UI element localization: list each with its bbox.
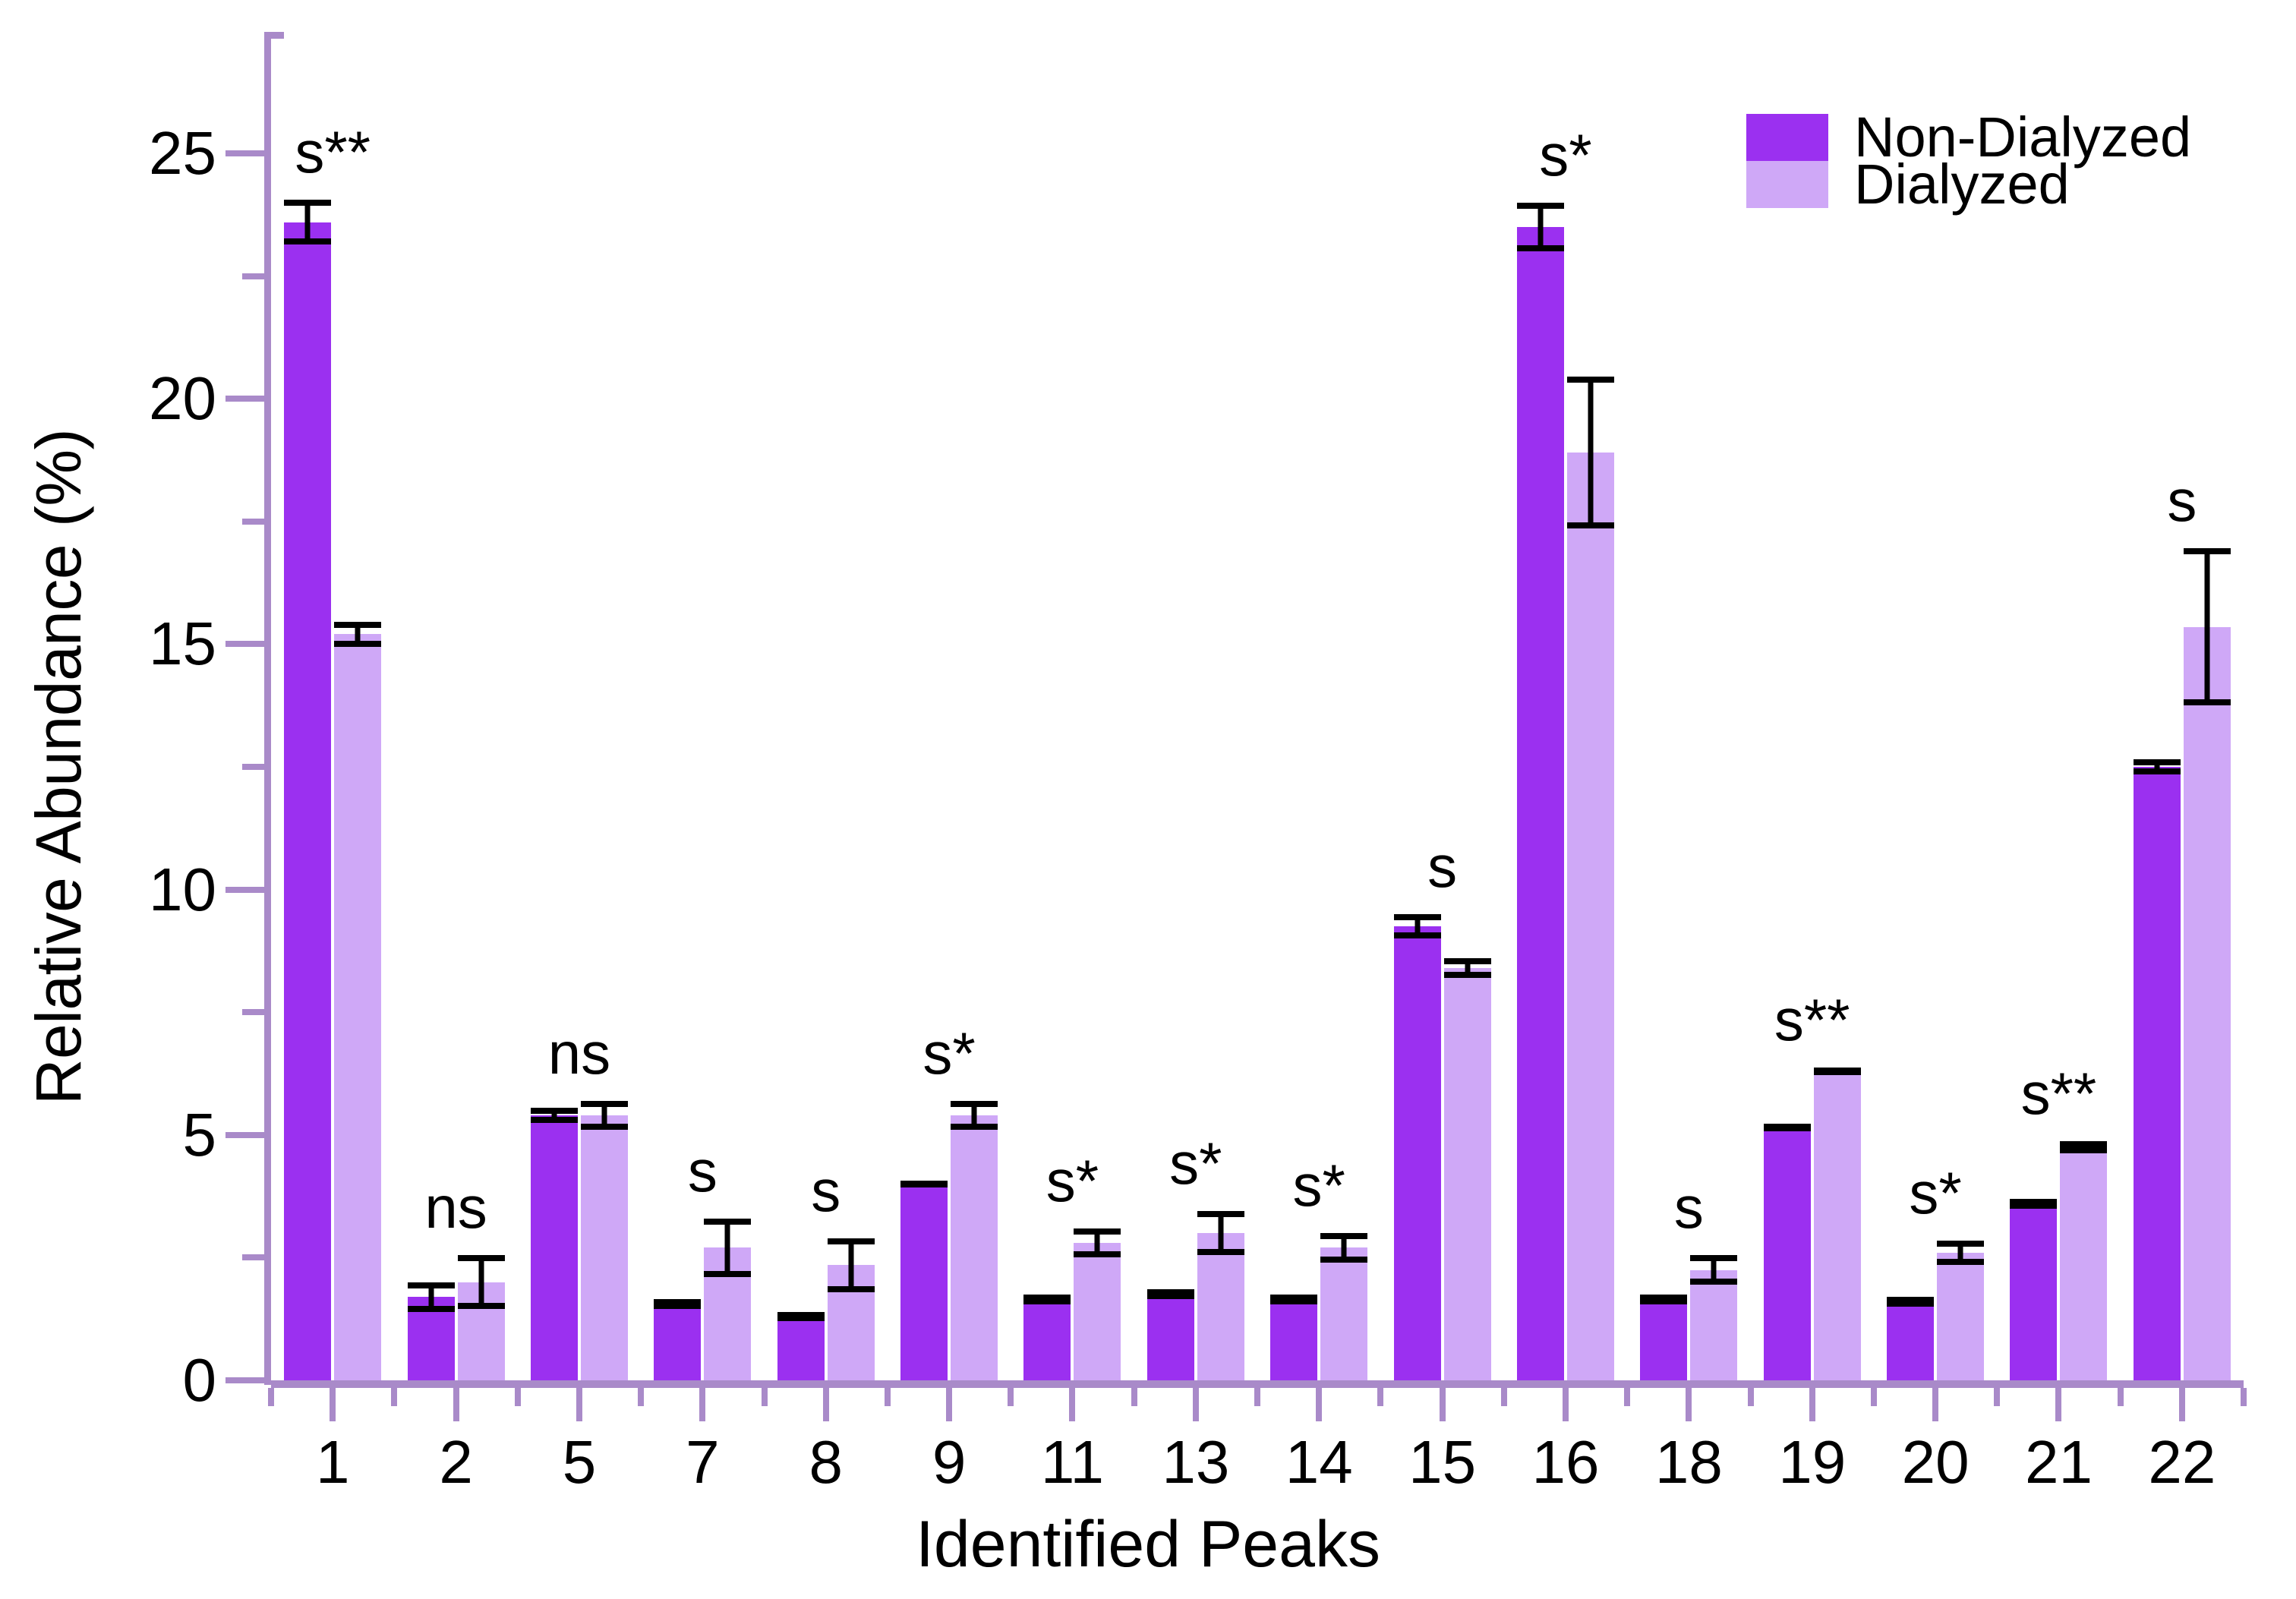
error-bar [777, 1312, 825, 1322]
significance-annotation-peak-8: s [811, 1156, 840, 1225]
error-bar-cap [2134, 759, 2181, 765]
error-bar [2134, 759, 2181, 774]
y-tick-label: 15 [149, 609, 216, 679]
x-tick-label: 11 [1041, 1427, 1104, 1497]
y-tick-major [225, 1377, 265, 1383]
y-tick-label: 25 [149, 118, 216, 188]
bar-non-dialyzed-peak-5[interactable] [531, 1115, 578, 1380]
error-bar-cap [1887, 1301, 1934, 1307]
error-bar-cap [2060, 1147, 2107, 1153]
y-tick-major [225, 641, 265, 647]
bar-dialyzed-peak-19[interactable] [1814, 1071, 1861, 1380]
significance-annotation-peak-16: s* [1539, 121, 1591, 190]
x-tick-major [1932, 1388, 1938, 1421]
significance-annotation-peak-5: ns [548, 1019, 610, 1088]
x-tick-label: 19 [1778, 1427, 1846, 1497]
significance-annotation-peak-2: ns [424, 1173, 487, 1242]
bar-non-dialyzed-peak-19[interactable] [1764, 1127, 1811, 1380]
legend-swatch-non-dialyzed [1746, 114, 1828, 161]
x-tick-major [1440, 1388, 1446, 1421]
x-tick-major [823, 1388, 829, 1421]
error-bar [408, 1282, 455, 1312]
error-bar-cap [951, 1124, 998, 1130]
error-bar-cap [2184, 699, 2231, 705]
y-axis-top-cap [264, 32, 284, 39]
x-tick-label: 20 [1902, 1427, 1970, 1497]
significance-annotation-peak-11: s* [1046, 1146, 1099, 1216]
x-tick-label: 16 [1531, 1427, 1599, 1497]
bar-non-dialyzed-peak-13[interactable] [1147, 1295, 1194, 1380]
error-bar-cap [1197, 1211, 1244, 1217]
x-tick-major [2055, 1388, 2061, 1421]
x-tick-minor [1008, 1388, 1014, 1406]
x-tick-minor [2241, 1388, 2247, 1406]
x-tick-major [330, 1388, 336, 1421]
x-tick-major [1069, 1388, 1075, 1421]
bar-non-dialyzed-peak-20[interactable] [1887, 1302, 1934, 1380]
x-tick-minor [638, 1388, 644, 1406]
x-axis-line [271, 1380, 2244, 1388]
y-tick-minor [242, 1009, 265, 1015]
error-bar [334, 622, 381, 646]
error-bar [458, 1255, 505, 1309]
bar-dialyzed-peak-5[interactable] [581, 1115, 628, 1380]
x-tick-major [2179, 1388, 2185, 1421]
error-bar [828, 1238, 875, 1292]
bar-non-dialyzed-peak-9[interactable] [900, 1184, 948, 1380]
error-bar-cap [1517, 203, 1564, 209]
significance-annotation-peak-15: s [1427, 832, 1457, 901]
bar-non-dialyzed-peak-21[interactable] [2010, 1203, 2057, 1380]
x-tick-minor [1501, 1388, 1507, 1406]
significance-annotation-peak-20: s* [1909, 1159, 1961, 1228]
error-bar-cap [2010, 1203, 2057, 1209]
significance-annotation-peak-13: s* [1169, 1129, 1222, 1198]
bar-non-dialyzed-peak-15[interactable] [1394, 926, 1441, 1380]
x-tick-major [946, 1388, 952, 1421]
y-axis-title: Relative Abundance (%) [17, 153, 100, 1380]
significance-annotation-peak-9: s* [922, 1019, 975, 1088]
x-tick-minor [268, 1388, 274, 1406]
error-bar [704, 1219, 751, 1278]
error-bar-cap [1320, 1257, 1367, 1263]
error-bar [1394, 914, 1441, 938]
significance-annotation-peak-14: s* [1293, 1151, 1345, 1220]
error-bar [581, 1101, 628, 1131]
error-bar-line [848, 1238, 853, 1292]
x-tick-label: 22 [2148, 1427, 2216, 1497]
error-bar-cap [531, 1117, 578, 1123]
error-bar-cap [1197, 1249, 1244, 1255]
x-tick-label: 15 [1408, 1427, 1476, 1497]
error-bar-cap [777, 1315, 825, 1321]
bar-dialyzed-peak-22[interactable] [2184, 627, 2231, 1380]
error-bar-cap [951, 1101, 998, 1107]
error-bar [1320, 1233, 1367, 1263]
error-bar-cap [1567, 522, 1614, 528]
error-bar-line [1537, 203, 1543, 252]
error-bar-cap [1690, 1279, 1737, 1285]
y-tick-major [225, 1132, 265, 1138]
significance-annotation-peak-7: s [688, 1137, 717, 1206]
bar-dialyzed-peak-21[interactable] [2060, 1147, 2107, 1380]
y-tick-label: 0 [183, 1345, 217, 1415]
error-bar-cap [2134, 768, 2181, 774]
x-tick-minor [1871, 1388, 1877, 1406]
error-bar-line [478, 1255, 484, 1309]
error-bar [1937, 1241, 1984, 1265]
error-bar-cap [1394, 914, 1441, 920]
y-tick-minor [242, 1254, 265, 1260]
error-bar-cap [1444, 972, 1491, 978]
error-bar-line [725, 1219, 730, 1278]
x-tick-major [1686, 1388, 1692, 1421]
chart-canvas: Relative Abundance (%) 0510152025 s**nsn… [0, 0, 2296, 1599]
error-bar-cap [334, 641, 381, 647]
error-bar [654, 1299, 701, 1309]
error-bar-cap [900, 1181, 948, 1187]
error-bar-cap [458, 1255, 505, 1261]
bar-dialyzed-peak-1[interactable] [334, 634, 381, 1380]
error-bar [1640, 1295, 1687, 1304]
bar-non-dialyzed-peak-18[interactable] [1640, 1299, 1687, 1380]
y-tick-label: 20 [149, 364, 216, 434]
error-bar-cap [1814, 1069, 1861, 1075]
error-bar-line [2204, 548, 2209, 705]
x-tick-label: 13 [1162, 1427, 1229, 1497]
x-tick-major [576, 1388, 582, 1421]
error-bar-cap [408, 1306, 455, 1312]
error-bar-cap [1394, 932, 1441, 938]
error-bar [1814, 1068, 1861, 1075]
error-bar [2184, 548, 2231, 705]
error-bar-cap [1147, 1293, 1194, 1299]
error-bar [1764, 1125, 1811, 1130]
error-bar [284, 200, 331, 244]
error-bar-cap [1270, 1298, 1317, 1304]
x-tick-minor [1748, 1388, 1754, 1406]
bar-dialyzed-peak-9[interactable] [951, 1115, 998, 1380]
x-tick-label: 14 [1285, 1427, 1353, 1497]
significance-annotation-peak-21: s** [2021, 1059, 2097, 1128]
x-tick-minor [391, 1388, 397, 1406]
y-tick-major [225, 396, 265, 402]
y-tick-label: 5 [183, 1100, 217, 1170]
error-bar [951, 1101, 998, 1131]
x-tick-minor [1131, 1388, 1137, 1406]
x-axis-title: Identified Peaks [0, 1507, 2296, 1582]
error-bar [1690, 1255, 1737, 1285]
bar-non-dialyzed-peak-14[interactable] [1270, 1299, 1317, 1380]
x-tick-label: 8 [809, 1427, 843, 1497]
error-bar-cap [1320, 1233, 1367, 1239]
error-bar [1023, 1295, 1071, 1304]
y-tick-major [225, 887, 265, 893]
x-tick-minor [1994, 1388, 2000, 1406]
x-tick-major [699, 1388, 705, 1421]
error-bar-cap [284, 238, 331, 244]
error-bar-cap [531, 1108, 578, 1114]
error-bar-cap [704, 1271, 751, 1277]
x-tick-label: 7 [686, 1427, 720, 1497]
error-bar [900, 1181, 948, 1186]
x-tick-label: 21 [2025, 1427, 2093, 1497]
y-tick-minor [242, 764, 265, 770]
bar-dialyzed-peak-13[interactable] [1197, 1233, 1244, 1380]
x-tick-major [1316, 1388, 1322, 1421]
x-tick-label: 5 [563, 1427, 597, 1497]
significance-annotation-peak-18: s [1674, 1173, 1704, 1242]
error-bar-cap [458, 1303, 505, 1309]
bar-dialyzed-peak-20[interactable] [1937, 1253, 1984, 1380]
x-tick-label: 2 [439, 1427, 473, 1497]
bar-non-dialyzed-peak-1[interactable] [284, 222, 331, 1381]
x-tick-minor [885, 1388, 891, 1406]
error-bar [1517, 203, 1564, 252]
plot-area: s**nsnssss*s*s*s*ss*ss**s*s**s [271, 153, 2244, 1380]
error-bar-cap [1937, 1259, 1984, 1265]
error-bar-cap [704, 1219, 751, 1225]
x-tick-label: 9 [932, 1427, 967, 1497]
error-bar-cap [284, 200, 331, 206]
x-tick-major [1193, 1388, 1199, 1421]
x-tick-minor [1624, 1388, 1630, 1406]
error-bar-line [1588, 377, 1593, 528]
error-bar-cap [654, 1303, 701, 1309]
bar-non-dialyzed-peak-22[interactable] [2134, 767, 2181, 1380]
bar-non-dialyzed-peak-16[interactable] [1517, 227, 1564, 1380]
error-bar-cap [1567, 377, 1614, 383]
bar-dialyzed-peak-18[interactable] [1690, 1270, 1737, 1380]
error-bar-cap [1690, 1255, 1737, 1261]
bar-dialyzed-peak-11[interactable] [1074, 1243, 1121, 1380]
x-tick-major [453, 1388, 459, 1421]
error-bar [531, 1108, 578, 1122]
x-tick-minor [1377, 1388, 1383, 1406]
error-bar [2010, 1199, 2057, 1209]
error-bar-cap [1074, 1228, 1121, 1235]
error-bar [1197, 1211, 1244, 1255]
error-bar-cap [581, 1124, 628, 1130]
error-bar-cap [828, 1238, 875, 1244]
error-bar-cap [2184, 548, 2231, 554]
x-tick-minor [515, 1388, 521, 1406]
x-tick-minor [1254, 1388, 1260, 1406]
error-bar-cap [1640, 1298, 1687, 1304]
y-tick-minor [242, 519, 265, 525]
legend-swatch-dialyzed [1746, 161, 1828, 208]
bar-dialyzed-peak-15[interactable] [1444, 968, 1491, 1380]
y-tick-minor [242, 273, 265, 279]
error-bar-cap [1074, 1251, 1121, 1257]
error-bar-cap [1517, 245, 1564, 251]
x-tick-major [1809, 1388, 1815, 1421]
x-tick-minor [2118, 1388, 2124, 1406]
bar-non-dialyzed-peak-7[interactable] [654, 1304, 701, 1380]
bar-dialyzed-peak-16[interactable] [1567, 453, 1614, 1380]
significance-annotation-peak-19: s** [1774, 986, 1850, 1055]
legend-label-dialyzed: Dialyzed [1854, 156, 2070, 213]
error-bar [1567, 377, 1614, 528]
bar-non-dialyzed-peak-11[interactable] [1023, 1299, 1071, 1380]
error-bar-cap [334, 622, 381, 628]
x-tick-label: 18 [1655, 1427, 1723, 1497]
bar-non-dialyzed-peak-8[interactable] [777, 1317, 825, 1380]
error-bar [1444, 958, 1491, 978]
error-bar-cap [828, 1286, 875, 1292]
error-bar-cap [1444, 958, 1491, 964]
error-bar-cap [1764, 1124, 1811, 1130]
error-bar [1147, 1289, 1194, 1299]
significance-annotation-peak-1: s** [295, 118, 371, 187]
error-bar [1887, 1297, 1934, 1307]
bar-dialyzed-peak-14[interactable] [1320, 1247, 1367, 1380]
error-bar [2060, 1141, 2107, 1153]
error-bar [1270, 1295, 1317, 1304]
significance-annotation-peak-22: s [2167, 466, 2197, 535]
y-tick-label: 10 [149, 855, 216, 925]
y-axis-line [264, 32, 271, 1385]
legend: Non-Dialyzed Dialyzed [1746, 114, 2191, 208]
x-tick-minor [762, 1388, 768, 1406]
error-bar-cap [581, 1101, 628, 1107]
error-bar-cap [408, 1282, 455, 1288]
error-bar-cap [1937, 1241, 1984, 1247]
y-tick-major [225, 150, 265, 156]
error-bar [1074, 1228, 1121, 1258]
error-bar-cap [1023, 1298, 1071, 1304]
x-tick-major [1563, 1388, 1569, 1421]
x-tick-label: 1 [316, 1427, 350, 1497]
